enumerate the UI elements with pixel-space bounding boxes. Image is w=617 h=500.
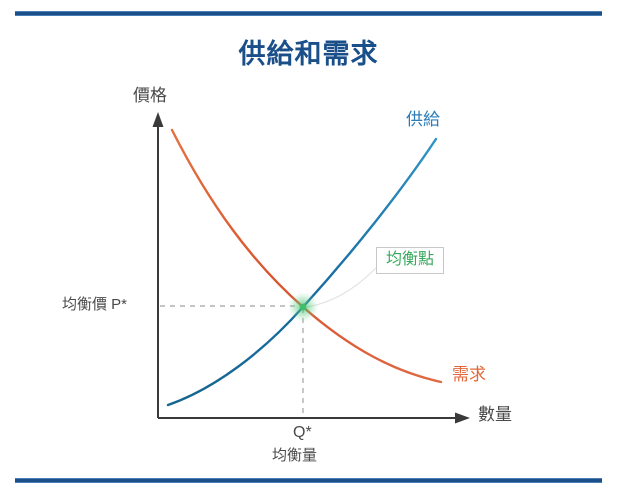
x-axis-arrowhead xyxy=(455,413,470,424)
equilibrium-quantity-label: 均衡量 xyxy=(272,447,317,464)
y-axis-arrowhead xyxy=(153,112,164,127)
equilibrium-price-label: 均衡價 P* xyxy=(62,296,127,313)
equilibrium-point-callout: 均衡點 xyxy=(376,247,444,274)
x-axis-label: 數量 xyxy=(478,405,512,425)
equilibrium-point-marker xyxy=(300,304,307,311)
equilibrium-leader-line xyxy=(307,268,376,307)
supply-curve-label: 供給 xyxy=(406,110,440,130)
supply-demand-chart-page: 供給和需求 xyxy=(0,0,617,500)
equilibrium-quantity-symbol: Q* xyxy=(293,424,312,442)
demand-curve-label: 需求 xyxy=(452,365,486,385)
y-axis-label: 價格 xyxy=(133,86,167,106)
